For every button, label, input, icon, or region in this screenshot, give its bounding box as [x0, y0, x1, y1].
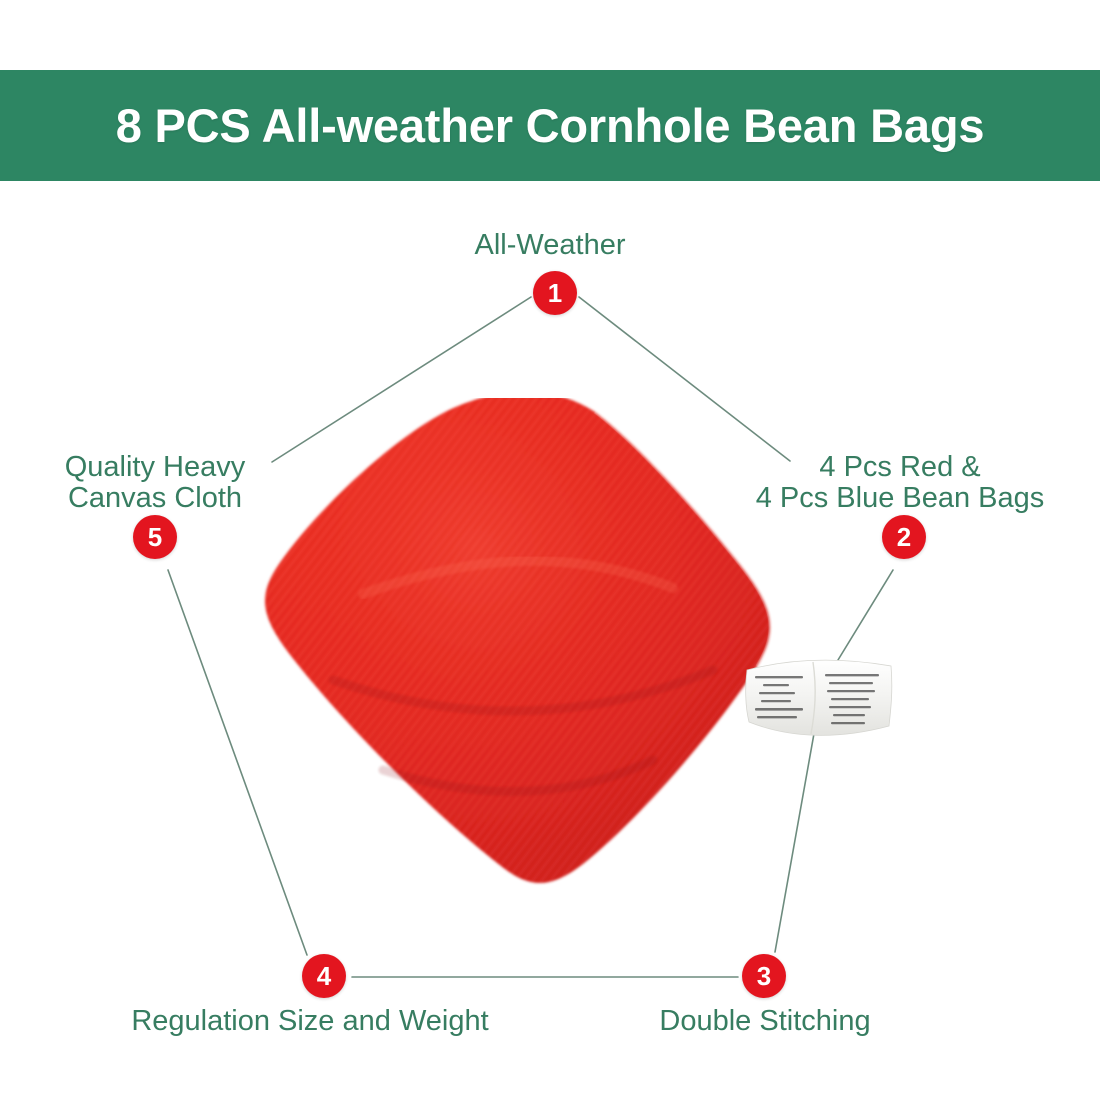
callout-label-5-line-2: Canvas Cloth	[20, 483, 290, 514]
care-tag	[741, 646, 901, 756]
badge-4-number: 4	[317, 963, 331, 989]
callout-label-2-line-2: 4 Pcs Blue Bean Bags	[720, 483, 1080, 514]
badge-1-number: 1	[548, 280, 562, 306]
red-bean-bag-image	[243, 398, 783, 908]
callout-label-1: All-Weather	[0, 230, 1100, 261]
callout-label-3-line-1: Double Stitching	[600, 1006, 930, 1037]
badge-3-number: 3	[757, 963, 771, 989]
callout-label-3: Double Stitching	[600, 1006, 930, 1037]
callout-label-4-line-1: Regulation Size and Weight	[90, 1006, 530, 1037]
badge-5[interactable]: 5	[133, 515, 177, 559]
callout-label-1-line-1: All-Weather	[0, 230, 1100, 261]
badge-4[interactable]: 4	[302, 954, 346, 998]
badge-2[interactable]: 2	[882, 515, 926, 559]
infographic-canvas: 8 PCS All-weather Cornhole Bean Bags	[0, 0, 1100, 1100]
callout-label-5-line-1: Quality Heavy	[20, 452, 290, 483]
badge-2-number: 2	[897, 524, 911, 550]
callout-label-2-line-1: 4 Pcs Red &	[720, 452, 1080, 483]
callout-label-2: 4 Pcs Red & 4 Pcs Blue Bean Bags	[720, 452, 1080, 515]
callout-label-5: Quality Heavy Canvas Cloth	[20, 452, 290, 515]
badge-3[interactable]: 3	[742, 954, 786, 998]
badge-5-number: 5	[148, 524, 162, 550]
badge-1[interactable]: 1	[533, 271, 577, 315]
page-title: 8 PCS All-weather Cornhole Bean Bags	[116, 98, 985, 153]
callout-label-4: Regulation Size and Weight	[90, 1006, 530, 1037]
header-banner: 8 PCS All-weather Cornhole Bean Bags	[0, 70, 1100, 181]
